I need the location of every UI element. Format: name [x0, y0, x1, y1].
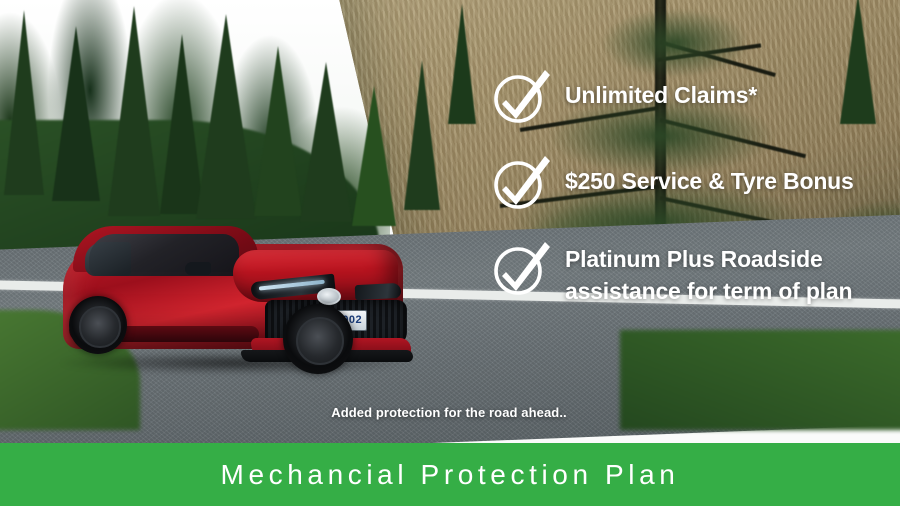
conifer-tree: [254, 46, 302, 216]
benefit-label: $250 Service & Tyre Bonus: [565, 154, 854, 198]
promo-banner-image: GAZ002 Unlimited Claims*: [0, 0, 900, 506]
benefit-item: Platinum Plus Roadside assistance for te…: [487, 240, 887, 307]
check-circle-icon: [487, 150, 553, 214]
conifer-tree: [52, 26, 100, 201]
conifer-tree: [196, 14, 256, 219]
benefits-list: Unlimited Claims* $250 Service & Tyre Bo…: [487, 68, 887, 307]
plan-title: Mechancial Protection Plan: [221, 461, 680, 489]
benefit-item: Unlimited Claims*: [487, 68, 887, 128]
check-circle-icon: [487, 236, 553, 300]
plan-title-banner: Mechancial Protection Plan: [0, 443, 900, 506]
car-windshield: [89, 234, 239, 276]
tagline-text: Added protection for the road ahead..: [331, 405, 567, 420]
tagline-caption: Added protection for the road ahead..: [0, 405, 900, 420]
conifer-tree: [352, 86, 396, 226]
car-rim: [296, 317, 345, 366]
car-headlight-right: [355, 283, 402, 300]
car-wheel-front: [283, 304, 353, 374]
benefit-label: Platinum Plus Roadside assistance for te…: [565, 240, 875, 307]
car-wheel-rear: [69, 296, 127, 354]
conifer-tree: [448, 4, 476, 124]
check-circle-icon: [487, 64, 553, 128]
car-side-mirror: [185, 262, 211, 275]
conifer-tree: [108, 6, 160, 216]
toyota-emblem-icon: [317, 288, 341, 305]
background-photo: GAZ002 Unlimited Claims*: [0, 0, 900, 450]
car-toyota-gr-corolla: GAZ002: [55, 222, 435, 382]
conifer-tree: [404, 60, 440, 210]
conifer-tree: [4, 10, 44, 195]
car-rim: [79, 306, 120, 347]
benefit-label: Unlimited Claims*: [565, 68, 757, 112]
benefit-item: $250 Service & Tyre Bonus: [487, 154, 887, 214]
conifer-tree: [300, 62, 352, 222]
